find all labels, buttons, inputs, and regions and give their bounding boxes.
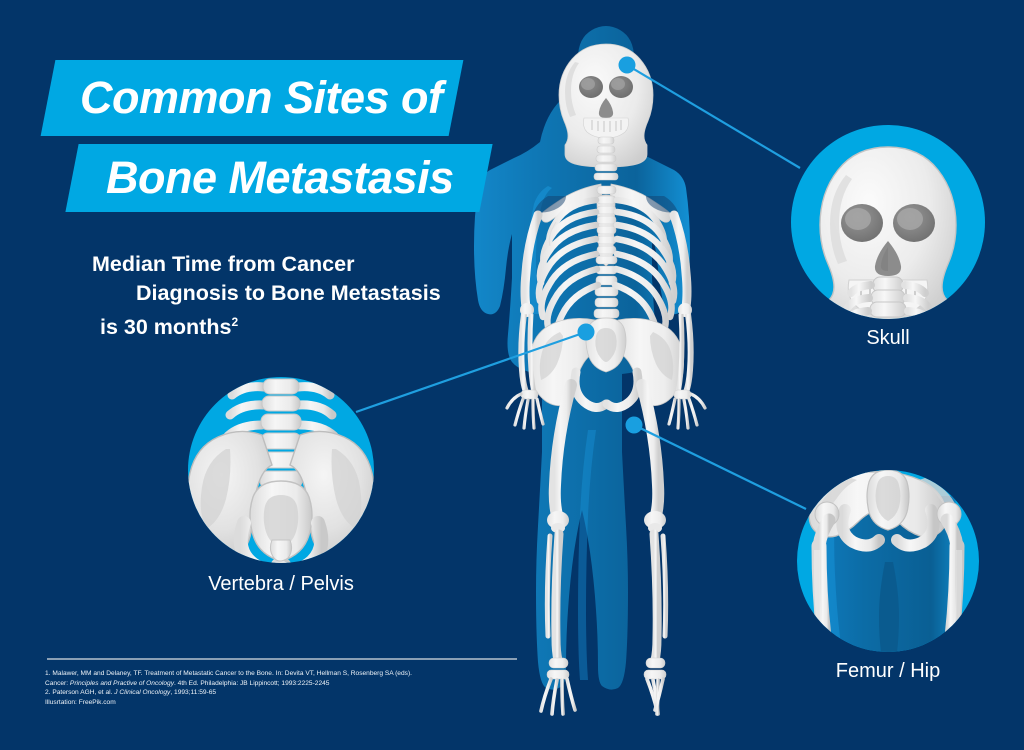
callout-vertebra-pelvis: Vertebra / Pelvis <box>188 377 374 617</box>
subtitle-reference-marker: 2 <box>231 315 238 329</box>
connector-skull <box>627 65 800 168</box>
callout-femur-hip-label: Femur / Hip <box>797 660 979 683</box>
title-banner-line1: Common Sites of <box>41 60 464 136</box>
callout-skull: Skull <box>791 125 985 355</box>
footnote-3-italic: J Clinical Oncology <box>114 689 170 696</box>
footnotes-block: 1. Malawer, MM and Delaney, TF. Treatmen… <box>45 669 412 707</box>
subtitle-line1: Median Time from Cancer <box>92 252 354 276</box>
arms-bones <box>507 215 705 428</box>
connector-vertebra-pelvis <box>356 332 586 412</box>
subtitle-line3-text: is 30 months <box>100 315 231 339</box>
callout-vertebra-pelvis-label: Vertebra / Pelvis <box>188 573 374 596</box>
subtitle-block: Median Time from Cancer Diagnosis to Bon… <box>92 250 441 342</box>
connector-femur-hip <box>634 425 806 509</box>
marker-dot-skull[interactable] <box>619 57 636 74</box>
skull-icon <box>791 125 985 319</box>
footnote-2-suffix: . 4th Ed. Philadelphia: JB Lippincott; 1… <box>174 680 329 687</box>
callout-skull-label: Skull <box>791 327 985 350</box>
title-line1-text: Common Sites of <box>80 72 443 124</box>
footnote-line-4: Illusrtation: FreePik.com <box>45 698 412 708</box>
footnote-line-1: 1. Malawer, MM and Delaney, TF. Treatmen… <box>45 669 412 679</box>
femur-hip-callout-circle <box>797 470 979 652</box>
pelvis-spine-icon <box>188 377 374 563</box>
footnote-line-3: 2. Paterson AGH, et al. J Clinical Oncol… <box>45 688 412 698</box>
vertebra-pelvis-callout-circle <box>188 377 374 563</box>
marker-dot-pelvis[interactable] <box>578 324 595 341</box>
subtitle-line2: Diagnosis to Bone Metastasis <box>92 279 441 308</box>
footer-divider <box>47 658 517 660</box>
title-banner-line2: Bone Metastasis <box>65 144 492 212</box>
body-silhouette <box>474 26 690 690</box>
title-line2-text: Bone Metastasis <box>106 152 454 204</box>
callout-femur-hip: Femur / Hip <box>797 470 979 696</box>
femur-hip-icon <box>797 470 979 652</box>
marker-dot-femur[interactable] <box>626 417 643 434</box>
skull-bone <box>559 44 653 180</box>
footnote-3-prefix: 2. Paterson AGH, et al. <box>45 689 114 696</box>
footnote-2-prefix: Cancer: <box>45 680 70 687</box>
skull-callout-circle <box>791 125 985 319</box>
legs-bones <box>541 385 666 714</box>
subtitle-line3: is 30 months2 <box>92 308 441 342</box>
ribcage-bone <box>534 184 678 341</box>
footnote-3-suffix: , 1993;11:59-65 <box>170 689 216 696</box>
footnote-line-2: Cancer: Principles and Practive of Oncol… <box>45 679 412 689</box>
infographic-poster: Common Sites of Bone Metastasis Median T… <box>0 0 1024 750</box>
pelvis-bone <box>529 318 683 408</box>
footnote-2-italic: Principles and Practive of Oncology <box>70 680 174 687</box>
